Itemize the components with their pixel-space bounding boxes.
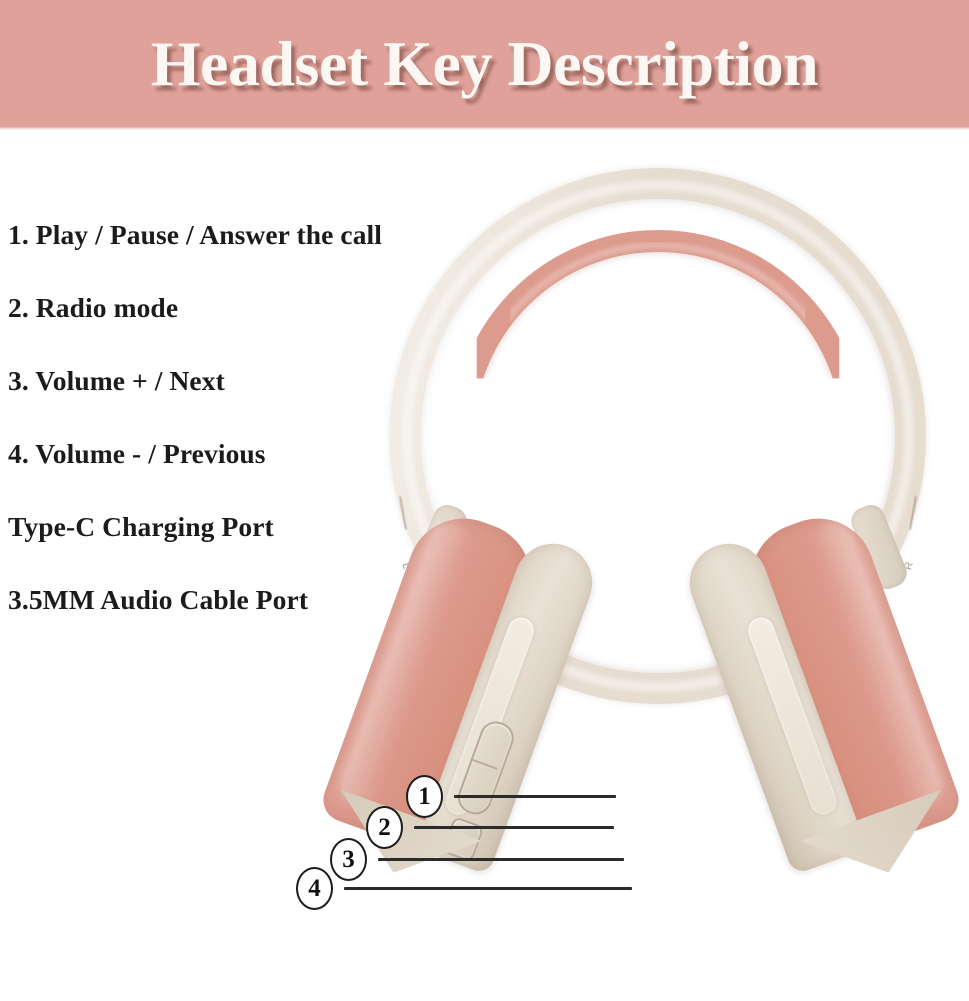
callout-leader-line [378,858,624,860]
list-item-label: 4. Volume - / Previous [8,438,266,470]
infographic-canvas: Headset Key Description 1. Play / Pause … [0,0,969,1001]
list-item-label: 3.5MM Audio Cable Port [8,584,308,616]
earcup-right [694,503,965,871]
callout-number-badge: 4 [296,867,333,910]
callout-leader-line [454,795,616,797]
callout-leader-line [344,887,632,889]
header-banner: Headset Key Description [0,0,969,128]
list-item-label: 3. Volume + / Next [8,365,225,397]
banner-bottom-edge [0,126,969,130]
list-item-label: Type-C Charging Port [8,511,274,543]
callout-leader-line [414,826,614,828]
list-item-label: 1. Play / Pause / Answer the call [8,219,382,251]
list-item-label: 2. Radio mode [8,292,178,324]
callout-4: 4 [296,867,632,910]
page-title: Headset Key Description [0,0,969,128]
